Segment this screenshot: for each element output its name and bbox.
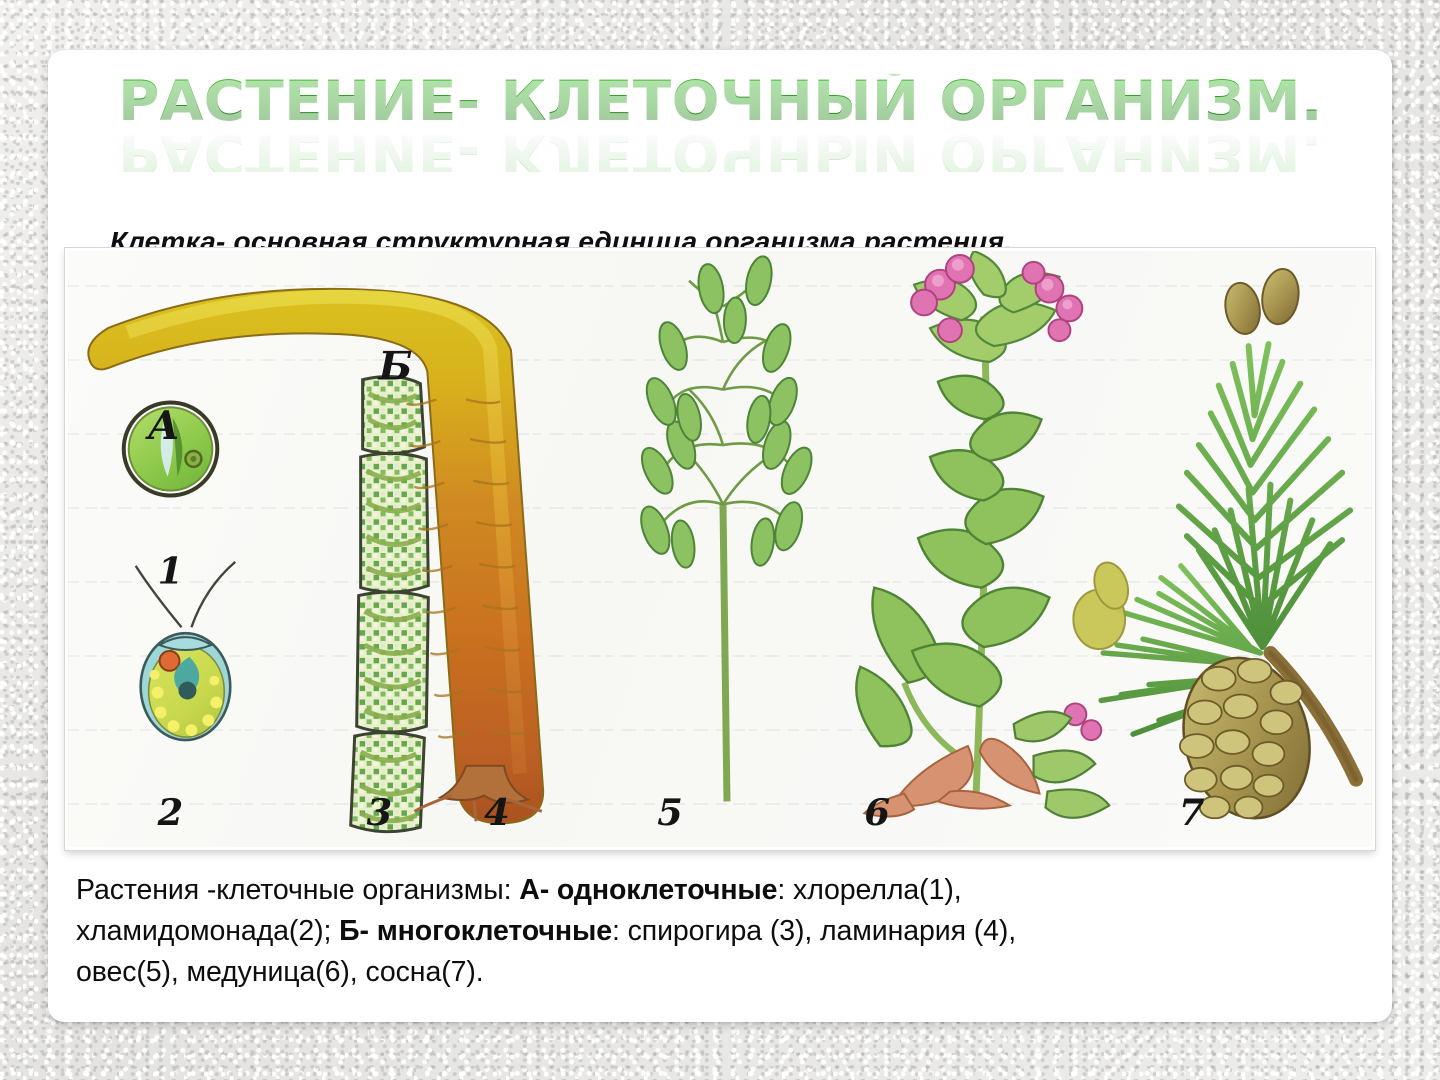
label-group-b: Б bbox=[378, 344, 413, 390]
illustration-canvas: А Б 1 2 3 4 5 6 7 bbox=[68, 251, 1372, 847]
page-title-reflection-text: РАСТЕНИЕ- КЛЕТОЧНЫЙ ОРГАНИЗМ. bbox=[118, 126, 1323, 172]
label-1: 1 bbox=[158, 550, 184, 593]
specimen-pine bbox=[1073, 267, 1356, 832]
label-7: 7 bbox=[1179, 791, 1205, 834]
page-title: РАСТЕНИЕ- КЛЕТОЧНЫЙ ОРГАНИЗМ. bbox=[118, 74, 1323, 129]
caption-line-1-bold: А- одноклеточные bbox=[519, 874, 777, 906]
caption-line-1-lead: Растения -клеточные организмы: bbox=[76, 874, 519, 906]
figure-caption: Растения -клеточные организмы: А- однокл… bbox=[76, 870, 1366, 993]
specimen-spirogyra bbox=[351, 377, 429, 832]
caption-line-2-bold: Б- многоклеточные bbox=[339, 915, 612, 947]
page-title-reflection: РАСТЕНИЕ- КЛЕТОЧНЫЙ ОРГАНИЗМ. bbox=[48, 126, 1392, 172]
specimen-oat bbox=[636, 254, 818, 801]
label-2: 2 bbox=[157, 791, 184, 834]
page-title-block: РАСТЕНИЕ- КЛЕТОЧНЫЙ ОРГАНИЗМ. bbox=[48, 74, 1392, 186]
label-3: 3 bbox=[367, 791, 393, 834]
slide-card: РАСТЕНИЕ- КЛЕТОЧНЫЙ ОРГАНИЗМ. РАСТЕНИЕ- … bbox=[48, 50, 1392, 1022]
label-group-a: А bbox=[145, 403, 180, 449]
label-4: 4 bbox=[484, 791, 510, 834]
specimen-chlamydomonas bbox=[136, 562, 236, 740]
caption-line-2: хламидомонада(2); Б- многоклеточные: спи… bbox=[76, 911, 1366, 952]
specimen-lungwort bbox=[856, 251, 1109, 818]
caption-line-2-lead: хламидомонада(2); bbox=[76, 915, 339, 947]
specimen-laminaria bbox=[88, 289, 543, 823]
plant-specimens-illustration: А Б 1 2 3 4 5 6 7 bbox=[68, 251, 1372, 847]
caption-line-1-tail: : хлорелла(1), bbox=[777, 874, 961, 906]
caption-line-1: Растения -клеточные организмы: А- однокл… bbox=[76, 870, 1366, 911]
illustration-frame: А Б 1 2 3 4 5 6 7 bbox=[65, 248, 1375, 850]
caption-line-2-tail: : спирогира (3), ламинария (4), bbox=[612, 915, 1016, 947]
caption-line-3: овес(5), медуница(6), сосна(7). bbox=[76, 952, 1366, 993]
label-6: 6 bbox=[864, 791, 890, 834]
label-5: 5 bbox=[657, 791, 683, 834]
